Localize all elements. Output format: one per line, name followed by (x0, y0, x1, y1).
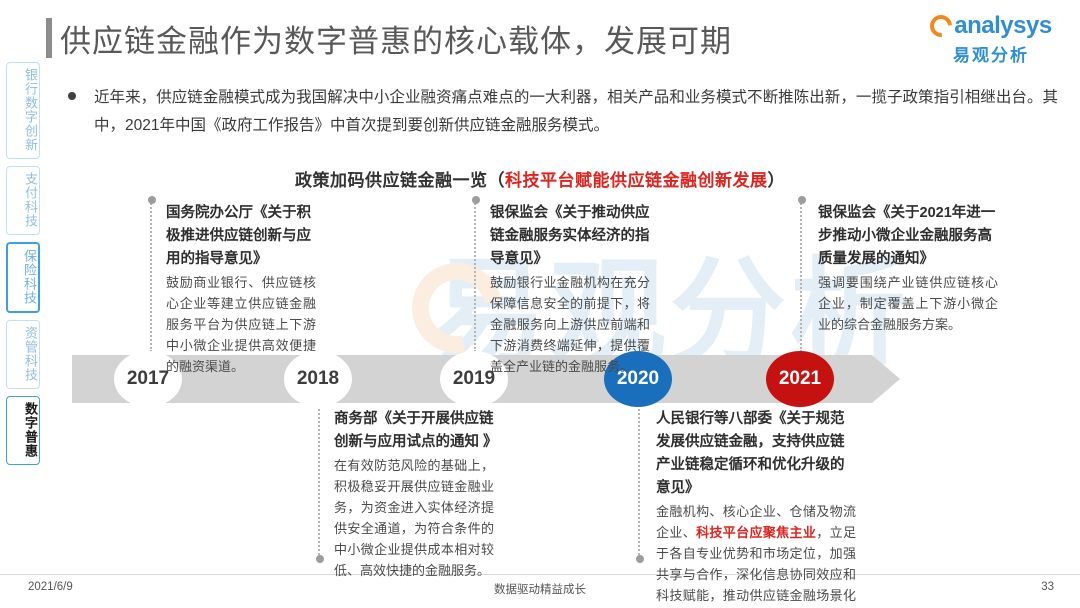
event-card-2020[interactable]: 人民银行等八部委《关于规范发展供应链金融，支持供应链产业链稳定循环和优化升级的意… (656, 408, 856, 608)
event-card-2018[interactable]: 商务部《关于开展供应链创新与应用试点的通知 》 在有效防范风险的基础上，积极稳妥… (334, 408, 494, 581)
event-card-2017-body: 鼓励商业银行、供应链核心企业等建立供应链金融服务平台为供应链上下游中小微企业提供… (166, 272, 316, 377)
connector-2019 (474, 200, 476, 352)
event-card-2019-title: 银保监会《关于推动供应链金融服务实体经济的指导意见》 (490, 202, 650, 271)
chart-subtitle: 政策加码供应链金融一览（科技平台赋能供应链金融创新发展） (0, 166, 1080, 191)
title-accent-bar (46, 18, 52, 58)
logo-swirl-icon (926, 11, 957, 42)
intro-bullet-text: 近年来，供应链金融模式成为我国解决中小企业融资痛点难点的一大利器，相关产品和业务… (94, 84, 1058, 140)
slide-canvas: 易观分析 银行数字创新 支付科技 保险科技 资管科技 数字普惠 供应链金融作为数… (0, 0, 1080, 608)
event-card-2018-title: 商务部《关于开展供应链创新与应用试点的通知 》 (334, 408, 494, 454)
timeline-marker-2021[interactable]: 2021 (766, 351, 834, 407)
footer-page-number: 33 (1041, 581, 1054, 593)
chart-subtitle-highlight: 科技平台赋能供应链金融创新发展 (505, 171, 768, 190)
sidebar: 银行数字创新 支付科技 保险科技 资管科技 数字普惠 (6, 62, 40, 472)
event-card-2021[interactable]: 银保监会《关于2021年进一步推动小微企业金融服务高质量发展的通知》 强调要围绕… (818, 202, 998, 335)
chart-subtitle-main: 政策加码供应链金融一览（ (295, 171, 505, 190)
intro-bullet: 近年来，供应链金融模式成为我国解决中小企业融资痛点难点的一大利器，相关产品和业务… (68, 84, 1058, 140)
event-card-2020-body-highlight: 科技平台应聚焦主业 (696, 525, 816, 540)
connector-knob-icon (316, 555, 324, 563)
sidebar-item-payment-tech[interactable]: 支付科技 (6, 166, 40, 235)
brand-logo: analysys 易观分析 (928, 12, 1054, 66)
sidebar-item-digital-inclusive-finance[interactable]: 数字普惠 (6, 396, 40, 465)
event-card-2018-body: 在有效防范风险的基础上，积极稳妥开展供应链金融业务，为资金进入实体经济提供安全通… (334, 455, 494, 581)
footer: 2021/6/9 数据驱动精益成长 33 (0, 574, 1080, 600)
event-card-2020-title: 人民银行等八部委《关于规范发展供应链金融，支持供应链产业链稳定循环和优化升级的意… (656, 408, 856, 500)
event-card-2017[interactable]: 国务院办公厅《关于积极推进供应链创新与应用的指导意见》 鼓励商业银行、供应链核心… (166, 202, 316, 377)
logo-chinese-name: 易观分析 (928, 41, 1054, 66)
sidebar-item-bank-digital-innovation[interactable]: 银行数字创新 (6, 62, 40, 159)
sidebar-item-asset-management-tech[interactable]: 资管科技 (6, 320, 40, 389)
connector-2020 (638, 404, 640, 559)
event-card-2021-title: 银保监会《关于2021年进一步推动小微企业金融服务高质量发展的通知》 (818, 202, 998, 271)
connector-2021 (800, 200, 802, 352)
event-card-2020-body: 金融机构、核心企业、仓储及物流企业、科技平台应聚焦主业，立足于各自专业优势和市场… (656, 501, 856, 608)
connector-knob-icon (472, 196, 480, 204)
bullet-dot-icon (68, 92, 76, 100)
chart-subtitle-tail: ） (768, 171, 786, 190)
event-card-2017-title: 国务院办公厅《关于积极推进供应链创新与应用的指导意见》 (166, 202, 316, 271)
footer-slogan: 数据驱动精益成长 (0, 581, 1080, 597)
logo-word: analysys (954, 14, 1051, 38)
connector-knob-icon (636, 555, 644, 563)
connector-2018 (318, 404, 320, 559)
sidebar-item-insurance-tech[interactable]: 保险科技 (6, 242, 40, 313)
page-title: 供应链金融作为数字普惠的核心载体，发展可期 (60, 16, 732, 61)
logo-wordmark-row: analysys (928, 12, 1054, 40)
connector-2017 (150, 200, 152, 352)
timeline-arrowhead-icon (872, 355, 900, 403)
event-card-2019-body: 鼓励银行业金融机构在充分保障信息安全的前提下，将金融服务向上游供应前端和下游消费… (490, 272, 650, 377)
event-card-2021-body: 强调要围绕产业链供应链核心企业，制定覆盖上下游小微企业的综合金融服务方案。 (818, 272, 998, 335)
event-card-2019[interactable]: 银保监会《关于推动供应链金融服务实体经济的指导意见》 鼓励银行业金融机构在充分保… (490, 202, 650, 377)
connector-knob-icon (148, 196, 156, 204)
connector-knob-icon (798, 196, 806, 204)
